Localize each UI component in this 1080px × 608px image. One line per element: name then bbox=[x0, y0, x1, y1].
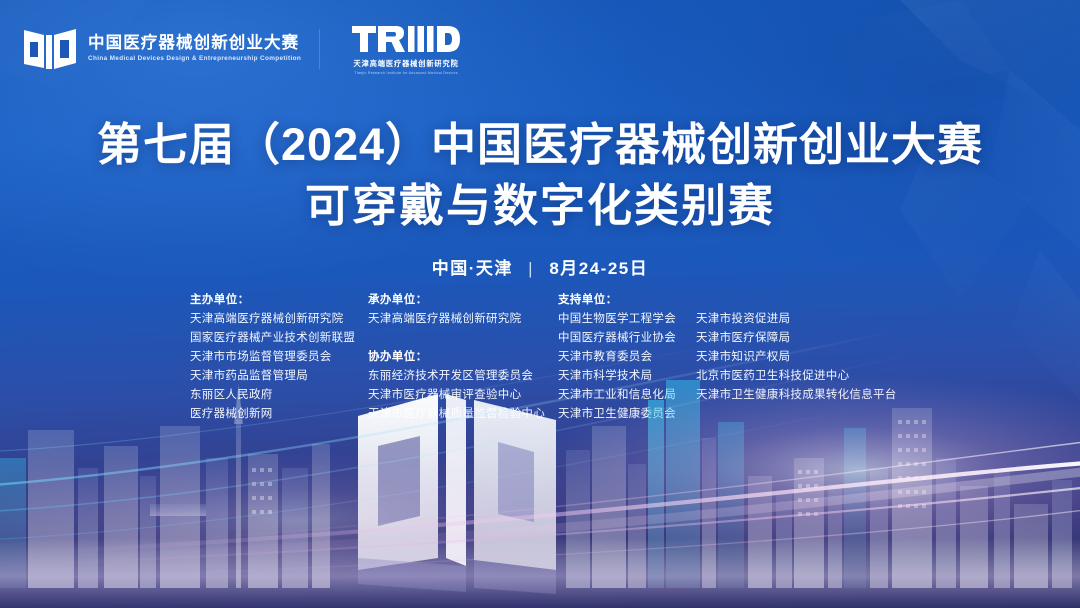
org-item: 医疗器械创新网 bbox=[190, 405, 368, 424]
org-item: 中国生物医学工程学会 bbox=[558, 310, 696, 329]
org-item: 天津高端医疗器械创新研究院 bbox=[368, 310, 558, 329]
organizer-column-host: 主办单位： 天津高端医疗器械创新研究院 国家医疗器械产业技术创新联盟 天津市市场… bbox=[190, 291, 368, 424]
org-item: 北京市医药卫生科技促进中心 bbox=[696, 367, 906, 386]
org-heading: 支持单位： bbox=[558, 291, 696, 310]
institute-logo: 天津高端医疗器械创新研究院 Tianjin Research Institute… bbox=[352, 22, 460, 75]
competition-cn-name: 中国医疗器械创新创业大赛 bbox=[88, 34, 301, 53]
org-item: 天津市市场监督管理委员会 bbox=[190, 348, 368, 367]
org-item: 天津市医疗器械质量监督检验中心 bbox=[368, 405, 558, 424]
org-item: 天津高端医疗器械创新研究院 bbox=[190, 310, 368, 329]
org-item: 天津市医疗器械审评查验中心 bbox=[368, 386, 558, 405]
org-item: 天津市医疗保障局 bbox=[696, 329, 906, 348]
org-heading: 协办单位： bbox=[368, 348, 558, 367]
org-item: 天津市投资促进局 bbox=[696, 310, 906, 329]
organizers-block: 主办单位： 天津高端医疗器械创新研究院 国家医疗器械产业技术创新联盟 天津市市场… bbox=[190, 291, 906, 424]
org-item: 国家医疗器械产业技术创新联盟 bbox=[190, 329, 368, 348]
institute-cn-name: 天津高端医疗器械创新研究院 bbox=[354, 59, 459, 69]
window-lights bbox=[252, 420, 926, 516]
event-location: 中国·天津 bbox=[432, 259, 513, 278]
competition-en-name: China Medical Devices Design & Entrepren… bbox=[88, 55, 301, 63]
logo-divider bbox=[319, 29, 320, 69]
org-heading: 主办单位： bbox=[190, 291, 368, 310]
org-item: 天津市知识产权局 bbox=[696, 348, 906, 367]
org-item: 天津市卫生健康委员会 bbox=[558, 405, 696, 424]
org-item: 天津市卫生健康科技成果转化信息平台 bbox=[696, 386, 906, 405]
competition-logo-text: 中国医疗器械创新创业大赛 China Medical Devices Desig… bbox=[88, 34, 301, 63]
org-item: 天津市药品监督管理局 bbox=[190, 367, 368, 386]
poster-canvas: 中国医疗器械创新创业大赛 China Medical Devices Desig… bbox=[0, 0, 1080, 608]
organizer-column-support-a: 支持单位： 中国生物医学工程学会 中国医疗器械行业协会 天津市教育委员会 天津市… bbox=[558, 291, 696, 424]
org-item: 天津市教育委员会 bbox=[558, 348, 696, 367]
organizer-column-organizer: 承办单位： 天津高端医疗器械创新研究院 协办单位： 东丽经济技术开发区管理委员会… bbox=[368, 291, 558, 424]
main-title-line1: 第七届（2024）中国医疗器械创新创业大赛 bbox=[0, 118, 1080, 171]
organizer-column-support-b: 天津市投资促进局 天津市医疗保障局 天津市知识产权局 北京市医药卫生科技促进中心… bbox=[696, 291, 906, 405]
title-block: 第七届（2024）中国医疗器械创新创业大赛 可穿戴与数字化类别赛 中国·天津 |… bbox=[0, 118, 1080, 279]
door-landmark-building bbox=[358, 394, 556, 594]
trimd-wordmark-icon bbox=[352, 22, 460, 56]
org-item: 东丽经济技术开发区管理委员会 bbox=[368, 367, 558, 386]
event-date: 8月24-25日 bbox=[549, 259, 648, 278]
org-spacer bbox=[368, 329, 558, 348]
institute-en-name: Tianjin Research Institute for Advanced … bbox=[354, 71, 457, 75]
org-heading: 承办单位： bbox=[368, 291, 558, 310]
org-item: 天津市科学技术局 bbox=[558, 367, 696, 386]
event-meta: 中国·天津 | 8月24-25日 bbox=[0, 254, 1080, 279]
header-logo-bar: 中国医疗器械创新创业大赛 China Medical Devices Desig… bbox=[22, 22, 460, 75]
org-item: 中国医疗器械行业协会 bbox=[558, 329, 696, 348]
main-title-line2: 可穿戴与数字化类别赛 bbox=[0, 179, 1080, 232]
org-item: 东丽区人民政府 bbox=[190, 386, 368, 405]
open-door-logo-icon bbox=[22, 26, 78, 72]
org-item: 天津市工业和信息化局 bbox=[558, 386, 696, 405]
meta-separator: | bbox=[528, 259, 534, 279]
